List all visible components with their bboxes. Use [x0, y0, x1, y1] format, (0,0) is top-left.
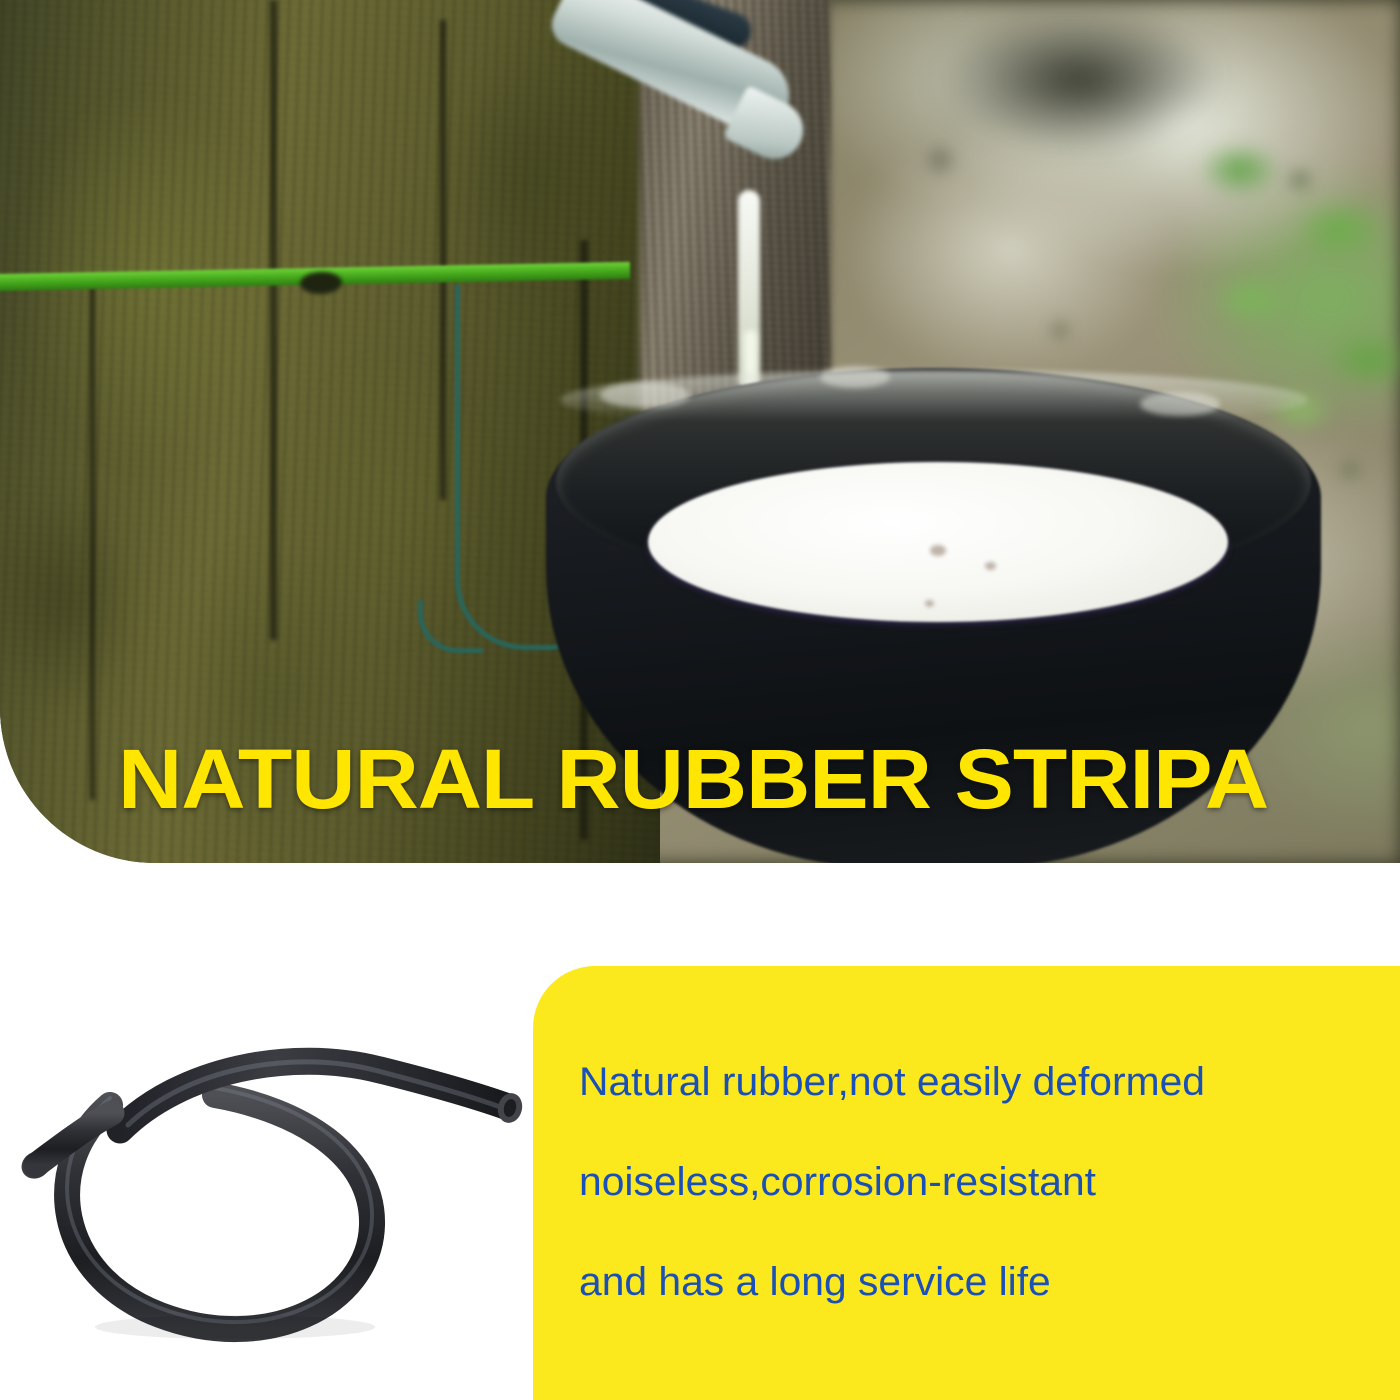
- latex-pool: [648, 462, 1228, 622]
- trunk-crack: [270, 0, 277, 640]
- rubber-strip-illustration: [0, 975, 533, 1375]
- latex-spot: [985, 562, 996, 570]
- hero-headline: NATURAL RUBBER STRIPA: [118, 737, 1268, 821]
- feature-line-1: Natural rubber,not easily deformed: [579, 1062, 1395, 1102]
- bowl-rim-crust: [600, 382, 690, 408]
- feature-line-2: noiseless,corrosion-resistant: [579, 1162, 1395, 1202]
- feature-line-3: and has a long service life: [579, 1262, 1395, 1302]
- trunk-crack: [90, 280, 95, 800]
- trunk-crack: [440, 20, 446, 500]
- latex-spot: [930, 545, 946, 556]
- feature-text-block: Natural rubber,not easily deformed noise…: [579, 1062, 1379, 1302]
- latex-spot: [925, 600, 934, 607]
- hero-photo: NATURAL RUBBER STRIPA: [0, 0, 1400, 863]
- strip-shadow: [95, 1315, 375, 1339]
- feature-panel: Natural rubber,not easily deformed noise…: [533, 966, 1400, 1400]
- bowl-rim-crust: [1140, 392, 1220, 416]
- bowl-rim-crust: [820, 366, 890, 388]
- product-photo-rubber-strip: [0, 975, 533, 1375]
